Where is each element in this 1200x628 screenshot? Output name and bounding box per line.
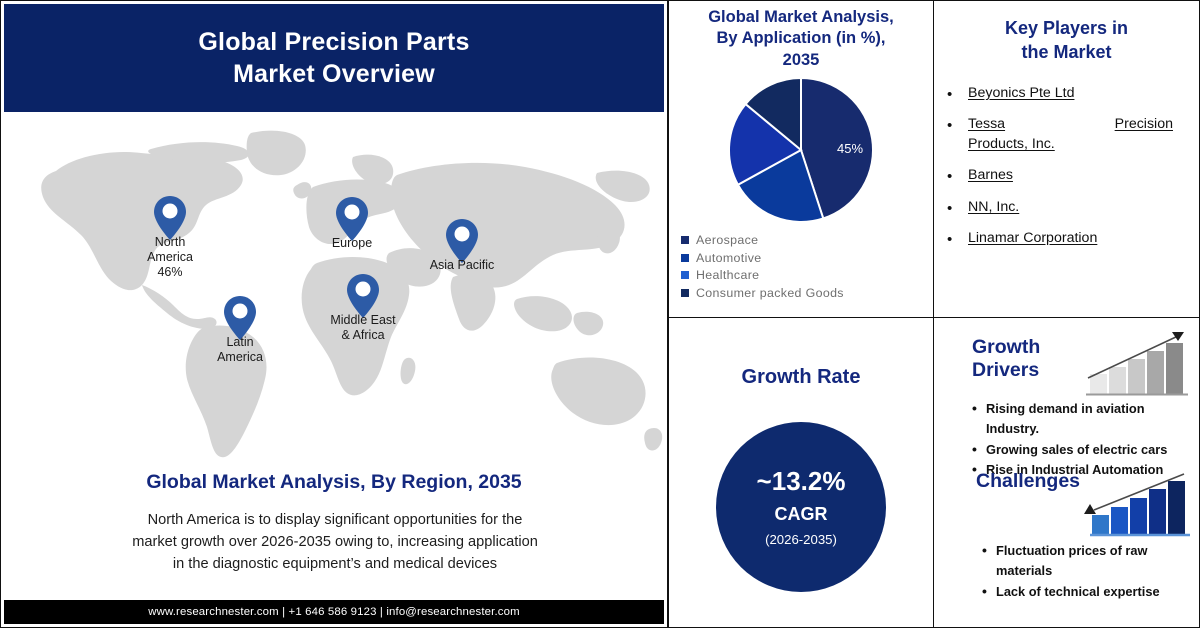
list-item[interactable]: • Tessa Precision Products, Inc.: [968, 114, 1187, 154]
player-name: Barnes: [968, 167, 1013, 183]
map-pin-label-latin-america: Latin America: [217, 335, 263, 365]
growth-rate-panel: Growth Rate ~13.2% CAGR (2026-2035): [668, 317, 934, 628]
player-name: Linamar Corporation: [968, 230, 1097, 246]
legend-swatch-icon: [681, 271, 689, 279]
pie-chart: 45%: [669, 75, 933, 227]
world-map-graphic: [1, 113, 667, 473]
hero-banner: Global Precision Parts Market Overview: [4, 4, 664, 112]
cagr-value: ~13.2%: [757, 467, 846, 496]
map-pin-label-north-america: North America 46%: [147, 235, 193, 279]
list-item-continuation: materials: [996, 562, 1196, 579]
legend-swatch-icon: [681, 289, 689, 297]
growth-drivers-title-line1: Growth: [972, 336, 1040, 359]
map-pin-label-asia-pacific: Asia Pacific: [430, 258, 495, 273]
region-caption-line2: market growth over 2026-2035 owing to, i…: [59, 531, 611, 553]
footer-bar: www.researchnester.com | +1 646 586 9123…: [4, 600, 664, 624]
bullet-icon: •: [972, 440, 977, 459]
map-pin-north-america[interactable]: North America 46%: [153, 195, 187, 241]
map-pin-latin-america[interactable]: Latin America: [223, 295, 257, 341]
player-name-part-a: Tessa: [968, 114, 1005, 134]
region-caption-line3: in the diagnostic equipment’s and medica…: [59, 553, 611, 575]
map-pin-label-middle-east-africa: Middle East & Africa: [330, 313, 395, 343]
list-item: • Lack of technical expertise: [996, 583, 1196, 600]
cagr-metric: CAGR: [775, 504, 828, 525]
application-pie-panel: Global Market Analysis, By Application (…: [668, 0, 934, 318]
infographic-page: Global Precision Parts Market Overview: [0, 0, 1200, 628]
key-players-title-line1: Key Players in: [944, 17, 1189, 41]
footer-contact-text: www.researchnester.com | +1 646 586 9123…: [148, 606, 520, 618]
bullet-icon: •: [947, 115, 952, 136]
key-players-title: Key Players in the Market: [934, 1, 1199, 65]
challenge-text: Lack of technical expertise: [996, 584, 1160, 599]
hero-title: Global Precision Parts Market Overview: [198, 26, 469, 90]
bullet-icon: •: [947, 166, 952, 187]
driver-text: Industry.: [986, 421, 1039, 436]
map-pin-middle-east-africa[interactable]: Middle East & Africa: [346, 273, 380, 319]
challenges-list: • Fluctuation prices of raw materials • …: [996, 542, 1196, 603]
driver-text: Rising demand in aviation: [986, 401, 1145, 416]
driver-text: Growing sales of electric cars: [986, 442, 1167, 457]
world-map: North America 46% Latin America: [1, 113, 667, 473]
pie-legend: Aerospace Automotive Healthcare Consumer…: [681, 233, 933, 300]
region-caption-body: North America is to display significant …: [59, 509, 611, 576]
growth-bar-chart-icon: [1084, 330, 1192, 400]
pie-title-line1: Global Market Analysis,: [677, 7, 925, 28]
legend-item-healthcare: Healthcare: [681, 268, 933, 282]
region-caption-heading: Global Market Analysis, By Region, 2035: [1, 471, 667, 494]
player-name: NN, Inc.: [968, 199, 1019, 215]
bullet-icon: •: [947, 198, 952, 219]
pie-title-line2: By Application (in %),: [677, 28, 925, 49]
key-players-list: • Beyonics Pte Ltd • Tessa Precision Pro…: [934, 83, 1199, 248]
map-pin-europe[interactable]: Europe: [335, 196, 369, 242]
key-players-title-line2: the Market: [944, 41, 1189, 65]
left-panel: Global Precision Parts Market Overview: [0, 0, 668, 628]
challenge-text: materials: [996, 563, 1052, 578]
list-item[interactable]: • Linamar Corporation: [968, 228, 1187, 248]
list-item: • Fluctuation prices of raw: [996, 542, 1196, 559]
key-players-panel: Key Players in the Market • Beyonics Pte…: [933, 0, 1200, 318]
player-name: Tessa Precision: [968, 114, 1187, 134]
challenges-title: Challenges: [976, 470, 1080, 493]
cagr-badge: ~13.2% CAGR (2026-2035): [716, 422, 886, 592]
challenge-text: Fluctuation prices of raw: [996, 543, 1147, 558]
legend-item-automotive: Automotive: [681, 251, 933, 265]
region-caption-line1: North America is to display significant …: [59, 509, 611, 531]
legend-item-aerospace: Aerospace: [681, 233, 933, 247]
list-item[interactable]: • Beyonics Pte Ltd: [968, 83, 1187, 103]
growth-rate-title: Growth Rate: [669, 318, 933, 389]
bullet-icon: •: [972, 399, 977, 418]
cagr-period: (2026-2035): [765, 532, 837, 547]
legend-swatch-icon: [681, 254, 689, 262]
list-item: • Rising demand in aviation: [986, 400, 1186, 417]
map-pin-label-europe: Europe: [332, 236, 372, 251]
challenges-bar-chart-icon: [1082, 470, 1194, 540]
bullet-icon: •: [982, 541, 987, 560]
list-item-continuation: Industry.: [986, 420, 1186, 437]
growth-drivers-title: Growth Drivers: [972, 336, 1040, 383]
hero-title-line2: Market Overview: [198, 58, 469, 90]
bullet-icon: •: [947, 229, 952, 250]
legend-swatch-icon: [681, 236, 689, 244]
drivers-challenges-panel: Growth Drivers • Rising demand in aviati…: [933, 317, 1200, 628]
bullet-icon: •: [982, 582, 987, 601]
growth-drivers-list: • Rising demand in aviation Industry. • …: [986, 400, 1186, 481]
legend-item-consumer-packed-goods: Consumer packed Goods: [681, 286, 933, 300]
player-name: Beyonics Pte Ltd: [968, 85, 1074, 101]
list-item: • Growing sales of electric cars: [986, 441, 1186, 458]
hero-title-line1: Global Precision Parts: [198, 28, 469, 56]
bullet-icon: •: [947, 84, 952, 105]
player-name-part-b: Precision: [1115, 114, 1173, 134]
growth-drivers-title-line2: Drivers: [972, 359, 1040, 382]
map-pin-asia-pacific[interactable]: Asia Pacific: [445, 218, 479, 264]
pie-slice-label-aerospace: 45%: [837, 141, 863, 156]
list-item[interactable]: • Barnes: [968, 165, 1187, 185]
player-name-part-c: Products, Inc.: [968, 134, 1187, 154]
list-item[interactable]: • NN, Inc.: [968, 197, 1187, 217]
pie-panel-title: Global Market Analysis, By Application (…: [669, 1, 933, 71]
pie-title-line3: 2035: [677, 50, 925, 71]
